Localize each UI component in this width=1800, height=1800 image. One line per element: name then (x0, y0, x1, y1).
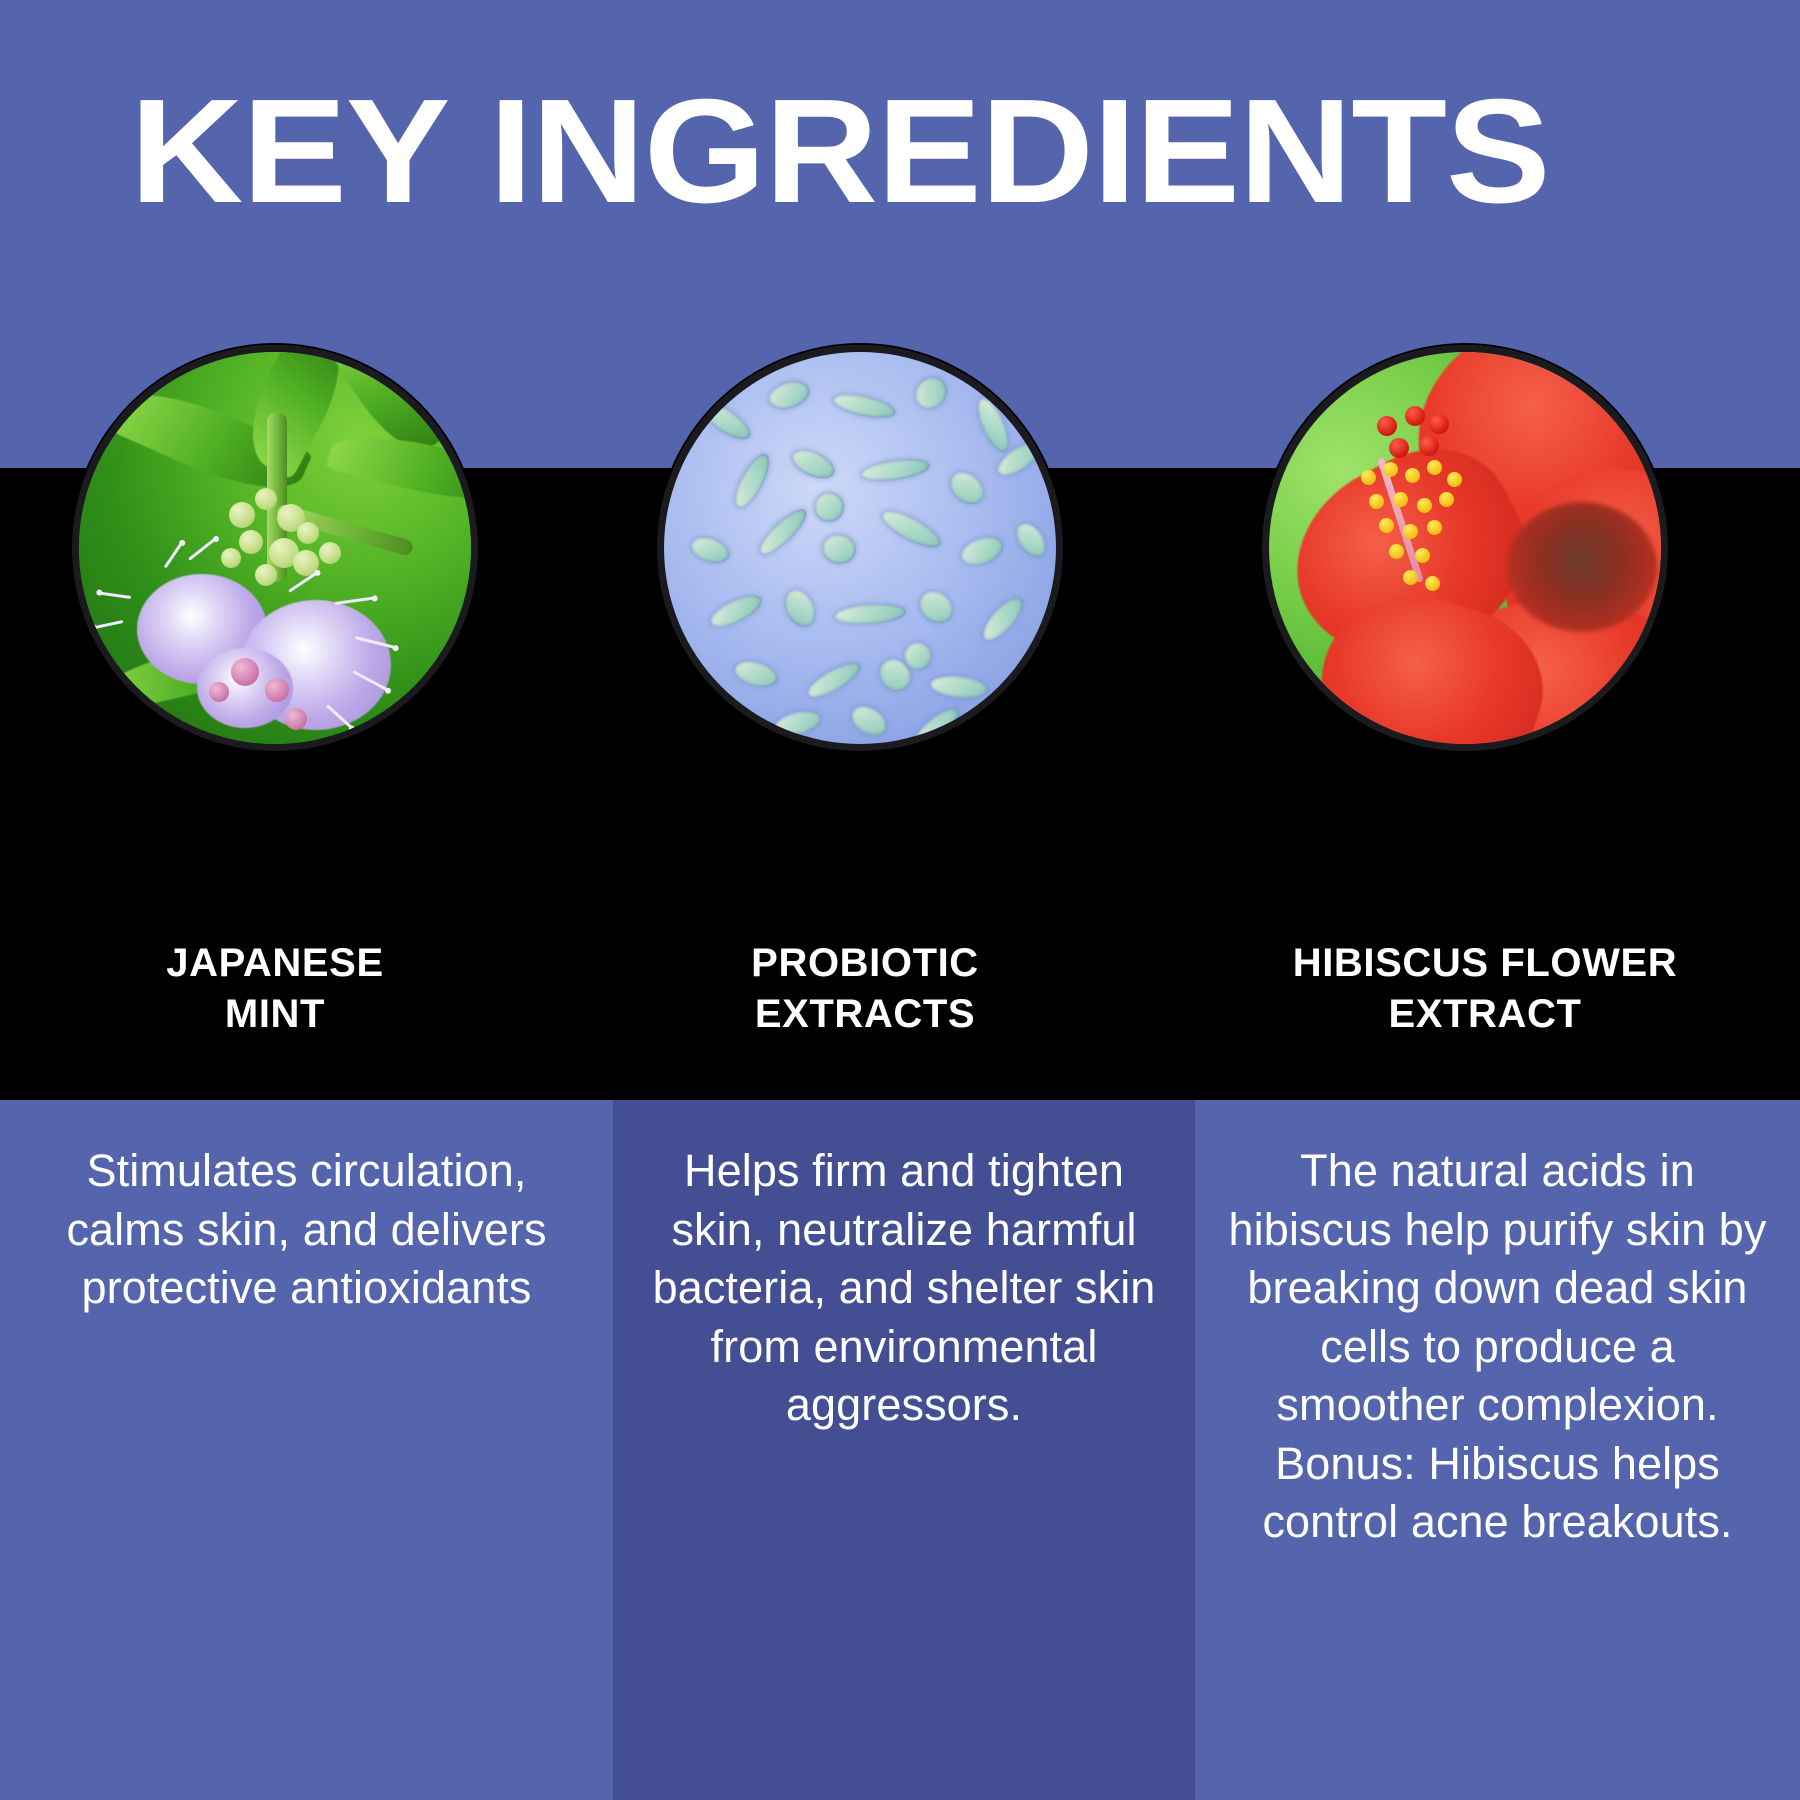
description-column-japanese-mint: Stimulates circulation, calms skin, and … (0, 1100, 613, 1800)
description-column-probiotic-extracts: Helps firm and tighten skin, neutralize … (613, 1100, 1195, 1800)
ingredient-label-line-1: JAPANESE (25, 938, 525, 989)
ingredient-label-line-2: EXTRACT (1205, 989, 1765, 1040)
ingredient-description: The natural acids in hibiscus help purif… (1225, 1142, 1770, 1552)
ingredient-label-line-1: PROBIOTIC (615, 938, 1115, 989)
ingredient-label-line-2: MINT (25, 989, 525, 1040)
probiotic-background (664, 352, 1056, 744)
page-title: KEY INGREDIENTS (130, 78, 1784, 226)
hibiscus-background (1269, 352, 1661, 744)
mint-background (79, 352, 471, 744)
ingredient-label-line-2: EXTRACTS (615, 989, 1115, 1040)
ingredient-label-japanese-mint: JAPANESE MINT (25, 938, 525, 1040)
infographic-page: KEY INGREDIENTS (0, 0, 1800, 1800)
ingredient-image-hibiscus-flower-extract (1262, 345, 1668, 751)
ingredient-label-hibiscus-flower-extract: HIBISCUS FLOWER EXTRACT (1205, 938, 1765, 1040)
description-columns: Stimulates circulation, calms skin, and … (0, 1100, 1800, 1800)
description-column-hibiscus-flower-extract: The natural acids in hibiscus help purif… (1195, 1100, 1800, 1800)
ingredient-image-japanese-mint (72, 345, 478, 751)
ingredient-label-line-1: HIBISCUS FLOWER (1205, 938, 1765, 989)
ingredient-description: Stimulates circulation, calms skin, and … (30, 1142, 583, 1318)
ingredient-label-probiotic-extracts: PROBIOTIC EXTRACTS (615, 938, 1115, 1040)
ingredient-description: Helps firm and tighten skin, neutralize … (643, 1142, 1165, 1435)
ingredient-image-probiotic-extracts (657, 345, 1063, 751)
